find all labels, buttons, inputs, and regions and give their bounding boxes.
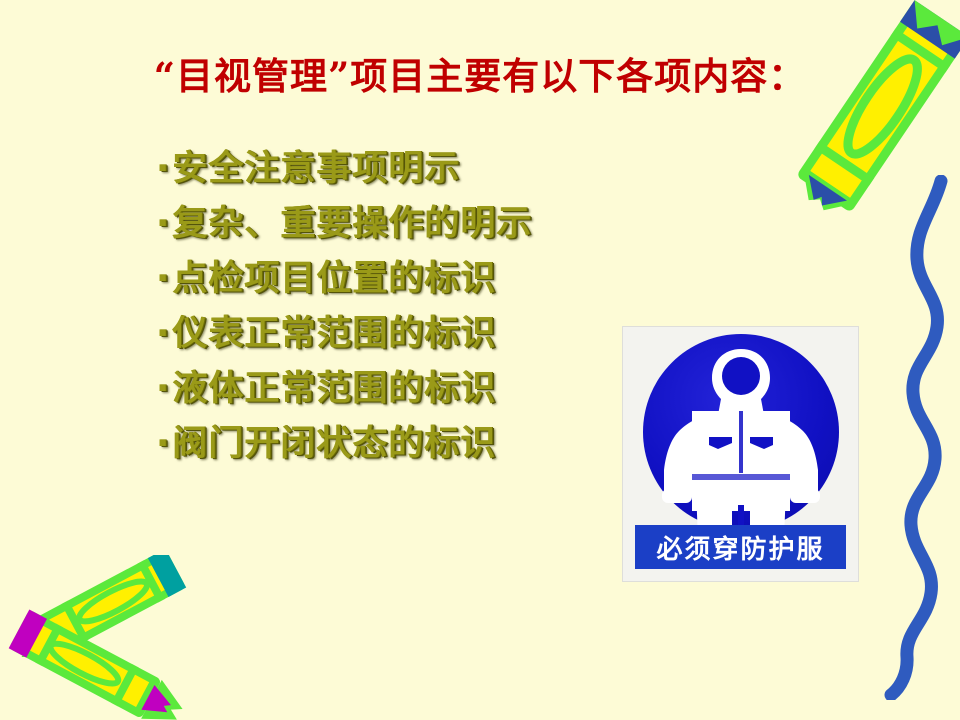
bullet-marker-icon: · bbox=[156, 142, 170, 197]
bullet-list: ·安全注意事项明示 ·复杂、重要操作的明示 ·点检项目位置的标识 ·仪表正常范围… bbox=[156, 142, 626, 472]
list-item-label: 阀门开闭状态的标识 bbox=[172, 424, 496, 464]
page-title: “目视管理”项目主要有以下各项内容： bbox=[0, 46, 960, 100]
sign-caption-bar: 必须穿防护服 bbox=[635, 525, 846, 569]
protective-clothing-icon bbox=[646, 337, 836, 542]
bullet-marker-icon: · bbox=[156, 307, 170, 362]
crossed-crayons-icon bbox=[0, 555, 234, 720]
list-item-label: 安全注意事项明示 bbox=[172, 149, 460, 189]
crayon-top-right-icon bbox=[786, 0, 960, 227]
list-item-label: 液体正常范围的标识 bbox=[172, 369, 496, 409]
safety-sign-image: 必须穿防护服 bbox=[623, 327, 858, 581]
list-item: ·仪表正常范围的标识 bbox=[156, 307, 626, 362]
list-item-label: 复杂、重要操作的明示 bbox=[172, 204, 532, 244]
bullet-marker-icon: · bbox=[156, 417, 170, 472]
list-item: ·阀门开闭状态的标识 bbox=[156, 417, 626, 472]
blue-wavy-line-icon bbox=[845, 175, 960, 700]
list-item-label: 点检项目位置的标识 bbox=[172, 259, 496, 299]
bullet-marker-icon: · bbox=[156, 362, 170, 417]
list-item: ·复杂、重要操作的明示 bbox=[156, 197, 626, 252]
list-item: ·安全注意事项明示 bbox=[156, 142, 626, 197]
list-item: ·点检项目位置的标识 bbox=[156, 252, 626, 307]
list-item: ·液体正常范围的标识 bbox=[156, 362, 626, 417]
list-item-label: 仪表正常范围的标识 bbox=[172, 314, 496, 354]
slide-canvas: “目视管理”项目主要有以下各项内容： ·安全注意事项明示 ·复杂、重要操作的明示… bbox=[0, 0, 960, 720]
bullet-marker-icon: · bbox=[156, 252, 170, 307]
bullet-marker-icon: · bbox=[156, 197, 170, 252]
